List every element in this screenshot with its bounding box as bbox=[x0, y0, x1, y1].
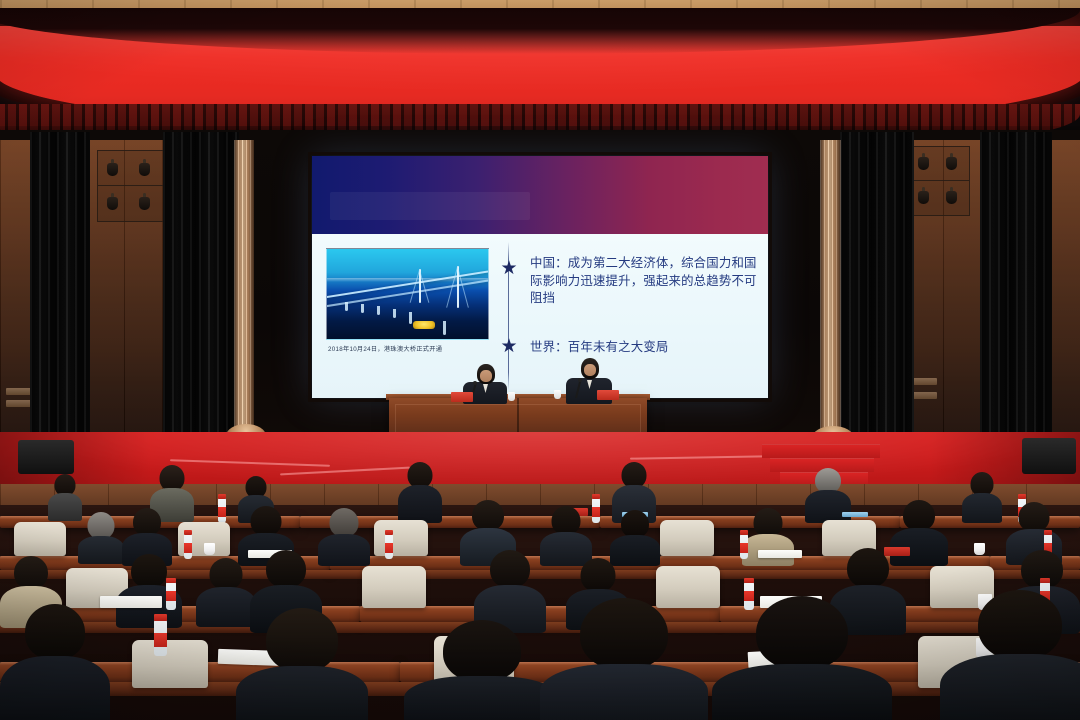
paper-cup[interactable] bbox=[974, 543, 985, 555]
stage-light-icon bbox=[945, 153, 958, 170]
paper-cup[interactable] bbox=[204, 543, 215, 555]
audience-member bbox=[398, 462, 442, 522]
projection-screen: 2018年10月24日，港珠澳大桥正式开通 ★ ★ 中国：成为第二大经济体，综合… bbox=[312, 156, 768, 398]
water-bottle[interactable] bbox=[218, 498, 226, 523]
slide-bullet-text-china: 中国：成为第二大经济体，综合国力和国际影响力迅速提升，强起来的总趋势不可阻挡 bbox=[530, 254, 758, 307]
audience-member-foreground bbox=[712, 596, 892, 720]
audience-member bbox=[474, 550, 546, 630]
audience-member-foreground bbox=[404, 620, 560, 720]
audience-member-foreground bbox=[540, 598, 708, 720]
stage-curtain-black-left-inner bbox=[163, 132, 239, 444]
lighting-truss-left bbox=[97, 150, 165, 222]
stage-curtain-black-right-outer bbox=[980, 132, 1052, 444]
stage-drape-tan-right bbox=[820, 140, 841, 440]
water-bottle[interactable] bbox=[592, 498, 600, 523]
water-cup-left bbox=[508, 392, 515, 401]
water-cup-right bbox=[554, 390, 561, 399]
floor-monitor-right bbox=[1022, 438, 1076, 474]
photo-caption: 2018年10月24日，港珠澳大桥正式开通 bbox=[328, 344, 442, 353]
bridge-photo bbox=[326, 248, 489, 340]
water-bottle[interactable] bbox=[184, 534, 192, 559]
microphone-head-right bbox=[578, 378, 582, 382]
audience-member bbox=[610, 510, 660, 564]
stage-light-icon bbox=[138, 159, 151, 176]
stage-light-icon bbox=[138, 193, 151, 210]
lighting-truss-right bbox=[908, 146, 970, 216]
stage-light-icon bbox=[917, 187, 930, 204]
name-placard-left bbox=[451, 392, 473, 402]
audience-member bbox=[48, 474, 82, 520]
conference-hall-scene: 2018年10月24日，港珠澳大桥正式开通 ★ ★ 中国：成为第二大经济体，综合… bbox=[0, 0, 1080, 720]
slide-header-placeholder-box bbox=[330, 192, 530, 220]
star-bullet-icon: ★ bbox=[500, 260, 518, 278]
audience-chair[interactable] bbox=[362, 566, 426, 608]
floor-monitor-left bbox=[18, 440, 74, 474]
audience-member bbox=[540, 506, 592, 564]
water-bottle[interactable] bbox=[166, 582, 176, 610]
stage-drape-tan-left bbox=[234, 140, 254, 438]
audience-chair[interactable] bbox=[374, 520, 428, 556]
stage-curtain-black-right-inner bbox=[840, 132, 914, 448]
slide-bullet-text-world: 世界：百年未有之大变局 bbox=[530, 338, 758, 356]
water-bottle[interactable] bbox=[154, 620, 167, 656]
tablet-device[interactable] bbox=[842, 512, 868, 517]
audience-chair[interactable] bbox=[660, 520, 714, 556]
stage-light-icon bbox=[945, 187, 958, 204]
stage-curtain-black-left-outer bbox=[30, 132, 90, 444]
audience-member-foreground bbox=[0, 604, 110, 720]
stage-light-icon bbox=[917, 153, 930, 170]
water-bottle[interactable] bbox=[385, 534, 393, 559]
audience-member-foreground bbox=[236, 608, 368, 720]
slide-body: 2018年10月24日，港珠澳大桥正式开通 ★ ★ 中国：成为第二大经济体，综合… bbox=[312, 234, 768, 398]
stage-light-icon bbox=[106, 159, 119, 176]
audience-chair[interactable] bbox=[14, 522, 66, 556]
audience-member bbox=[318, 508, 370, 564]
notebook-paper[interactable] bbox=[758, 550, 802, 558]
audience-chair[interactable] bbox=[132, 640, 208, 688]
audience-member-foreground bbox=[940, 590, 1080, 720]
red-led-banner bbox=[0, 8, 1080, 138]
stage-light-icon bbox=[106, 193, 119, 210]
star-bullet-icon: ★ bbox=[500, 338, 518, 356]
audience-member bbox=[962, 472, 1002, 522]
name-placard-right bbox=[597, 390, 619, 400]
microphone-head-left bbox=[473, 381, 477, 385]
water-bottle[interactable] bbox=[740, 534, 748, 559]
slide-header-band bbox=[312, 156, 768, 234]
